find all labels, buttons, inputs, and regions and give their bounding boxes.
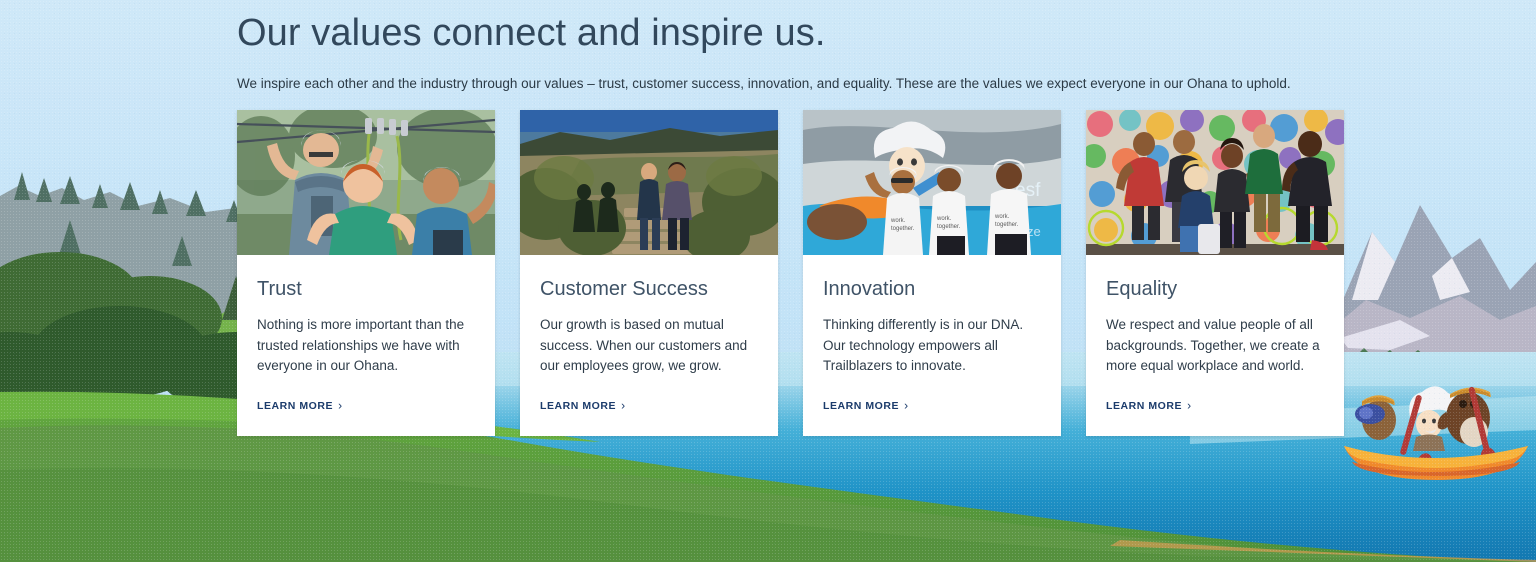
learn-more-label: LEARN MORE: [1106, 400, 1182, 412]
learn-more-link-equality[interactable]: LEARN MORE ›: [1106, 400, 1324, 412]
card-body-innovation: Innovation Thinking differently is in ou…: [803, 255, 1061, 436]
card-description: Thinking differently is in our DNA. Our …: [823, 315, 1041, 377]
svg-text:together.: together.: [937, 224, 961, 230]
card-image-innovation: esf ze: [803, 110, 1061, 255]
chevron-right-icon: ›: [1187, 400, 1192, 412]
learn-more-label: LEARN MORE: [257, 400, 333, 412]
learn-more-link-trust[interactable]: LEARN MORE ›: [257, 400, 475, 412]
learn-more-label: LEARN MORE: [540, 400, 616, 412]
card-body-trust: Trust Nothing is more important than the…: [237, 255, 495, 436]
card-body-equality: Equality We respect and value people of …: [1086, 255, 1344, 436]
card-image-trust: [237, 110, 495, 255]
chevron-right-icon: ›: [338, 400, 343, 412]
learn-more-link-innovation[interactable]: LEARN MORE ›: [823, 400, 1041, 412]
card-title: Innovation: [823, 277, 1041, 301]
value-cards-row: Trust Nothing is more important than the…: [237, 110, 1347, 436]
svg-text:work.: work.: [994, 214, 1010, 220]
card-image-equality: [1086, 110, 1344, 255]
value-card-customer-success[interactable]: Customer Success Our growth is based on …: [520, 110, 778, 436]
card-body-customer-success: Customer Success Our growth is based on …: [520, 255, 778, 436]
card-image-customer-success: [520, 110, 778, 255]
page-root: Our values connect and inspire us. We in…: [0, 0, 1536, 562]
page-title: Our values connect and inspire us.: [237, 0, 1357, 66]
card-description: Our growth is based on mutual success. W…: [540, 315, 758, 377]
chevron-right-icon: ›: [621, 400, 626, 412]
card-title: Customer Success: [540, 277, 758, 301]
page-header: Our values connect and inspire us. We in…: [237, 0, 1357, 94]
learn-more-link-customer-success[interactable]: LEARN MORE ›: [540, 400, 758, 412]
svg-text:work.: work.: [890, 218, 906, 224]
card-description: Nothing is more important than the trust…: [257, 315, 475, 377]
value-card-trust[interactable]: Trust Nothing is more important than the…: [237, 110, 495, 436]
svg-text:work.: work.: [936, 216, 952, 222]
page-subtitle: We inspire each other and the industry t…: [237, 74, 1357, 94]
card-description: We respect and value people of all backg…: [1106, 315, 1324, 377]
card-title: Trust: [257, 277, 475, 301]
svg-text:together.: together.: [995, 222, 1019, 228]
svg-text:together.: together.: [891, 226, 915, 232]
value-card-equality[interactable]: Equality We respect and value people of …: [1086, 110, 1344, 436]
chevron-right-icon: ›: [904, 400, 909, 412]
value-card-innovation[interactable]: esf ze: [803, 110, 1061, 436]
card-title: Equality: [1106, 277, 1324, 301]
learn-more-label: LEARN MORE: [823, 400, 899, 412]
